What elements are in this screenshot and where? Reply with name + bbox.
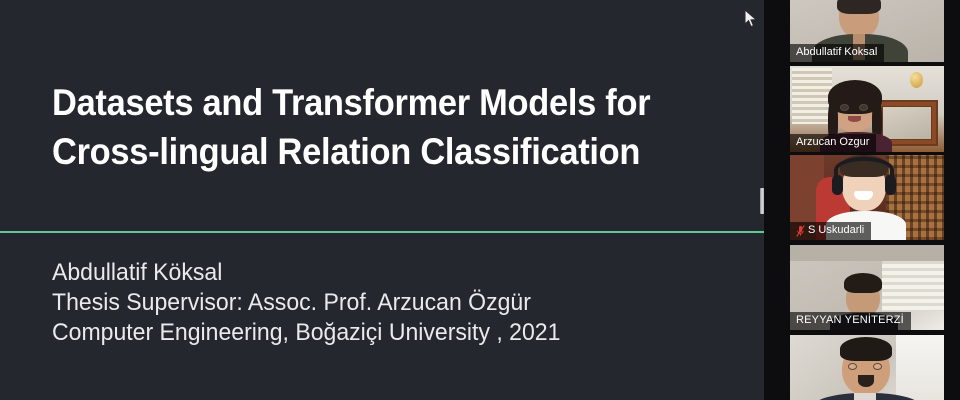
participant-name: Abdullatif Koksal	[796, 46, 877, 59]
participant-name-label: Arzucan Ozgur	[790, 134, 876, 152]
screen-share-meeting-view: Datasets and Transformer Models for Cros…	[0, 0, 960, 400]
mouse-cursor-icon	[744, 9, 758, 29]
participant-video-strip[interactable]: Abdullatif Koksal	[764, 0, 960, 400]
slide-title: Datasets and Transformer Models for Cros…	[52, 78, 694, 176]
video-tile-participant-5[interactable]: Arda Celebi	[790, 335, 944, 400]
shared-slide-area[interactable]: Datasets and Transformer Models for Cros…	[0, 0, 764, 400]
slide-subtitle-block: Abdullatif Köksal Thesis Supervisor: Ass…	[52, 258, 714, 348]
video-tile-participant-3[interactable]: S Uskudarli	[790, 155, 944, 240]
mic-muted-icon	[796, 225, 805, 237]
video-tile-participant-2[interactable]: Arzucan Ozgur	[790, 66, 944, 152]
video-tile-participant-1[interactable]: Abdullatif Koksal	[790, 0, 944, 62]
participant-name-label: S Uskudarli	[790, 222, 871, 240]
participant-name: REYYAN YENİTERZİ	[796, 314, 904, 327]
participant-name: S Uskudarli	[808, 224, 864, 237]
participant-name-label: REYYAN YENİTERZİ	[790, 312, 911, 330]
video-tile-participant-4[interactable]: REYYAN YENİTERZİ	[790, 245, 944, 330]
slide-divider	[0, 231, 764, 233]
participant-name: Arzucan Ozgur	[796, 136, 869, 149]
video-feed	[790, 335, 944, 400]
participant-name-label: Abdullatif Koksal	[790, 44, 884, 62]
